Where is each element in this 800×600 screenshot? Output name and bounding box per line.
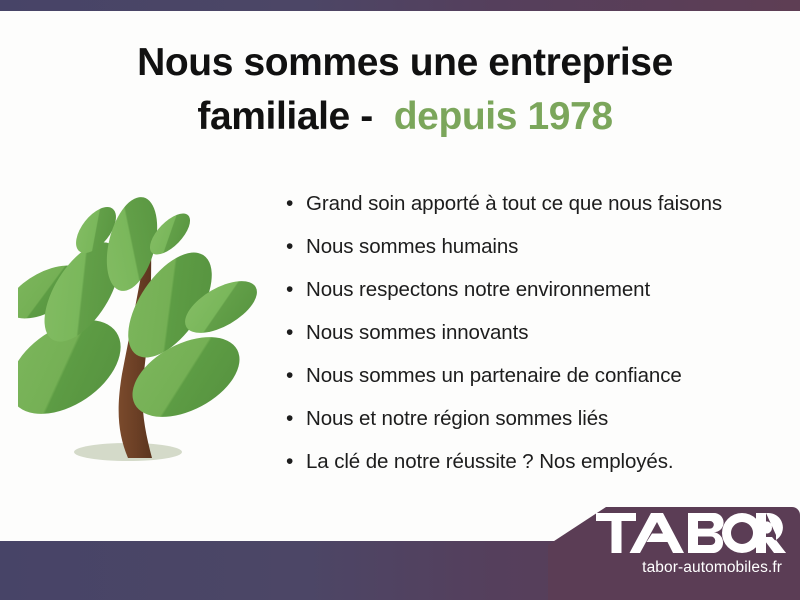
list-item-label: Grand soin apporté à tout ce que nous fa… xyxy=(306,190,722,218)
headline-dash: - xyxy=(360,95,373,138)
bullet-icon: • xyxy=(286,190,306,218)
tree-icon xyxy=(18,182,270,482)
list-item-label: Nous sommes un partenaire de confiance xyxy=(306,362,682,390)
headline-line-1: Nous sommes une entreprise xyxy=(137,41,673,84)
page-title: Nous sommes une entreprise familiale - d… xyxy=(60,36,750,144)
list-item-label: La clé de notre réussite ? Nos employés. xyxy=(306,448,673,476)
headline-line-2-accent: depuis 1978 xyxy=(394,95,613,138)
logo-url-label: tabor-automobiles.fr xyxy=(548,559,782,577)
bullet-icon: • xyxy=(286,319,306,347)
bullet-icon: • xyxy=(286,448,306,476)
headline-line-2-primary: familiale xyxy=(197,95,349,138)
list-item: • Nous et notre région sommes liés xyxy=(286,405,756,448)
list-item-label: Nous et notre région sommes liés xyxy=(306,405,608,433)
list-item-label: Nous sommes humains xyxy=(306,233,518,261)
slide-canvas: Nous sommes une entreprise familiale - d… xyxy=(0,0,800,600)
list-item: • La clé de notre réussite ? Nos employé… xyxy=(286,448,756,491)
list-item: • Grand soin apporté à tout ce que nous … xyxy=(286,190,756,233)
top-accent-band xyxy=(0,0,800,11)
list-item: • Nous sommes un partenaire de confiance xyxy=(286,362,756,405)
list-item-label: Nous respectons notre environnement xyxy=(306,276,650,304)
bullet-icon: • xyxy=(286,362,306,390)
tree-illustration-svg xyxy=(18,182,270,482)
bullet-icon: • xyxy=(286,233,306,261)
brand-logo[interactable]: tabor-automobiles.fr xyxy=(548,507,800,600)
list-item: • Nous respectons notre environnement xyxy=(286,276,756,319)
list-item: • Nous sommes humains xyxy=(286,233,756,276)
value-list: • Grand soin apporté à tout ce que nous … xyxy=(286,190,756,491)
bullet-icon: • xyxy=(286,276,306,304)
list-item: • Nous sommes innovants xyxy=(286,319,756,362)
list-item-label: Nous sommes innovants xyxy=(306,319,528,347)
tree-leaves xyxy=(18,192,265,434)
tabor-wordmark-icon xyxy=(596,513,786,553)
bullet-icon: • xyxy=(286,405,306,433)
